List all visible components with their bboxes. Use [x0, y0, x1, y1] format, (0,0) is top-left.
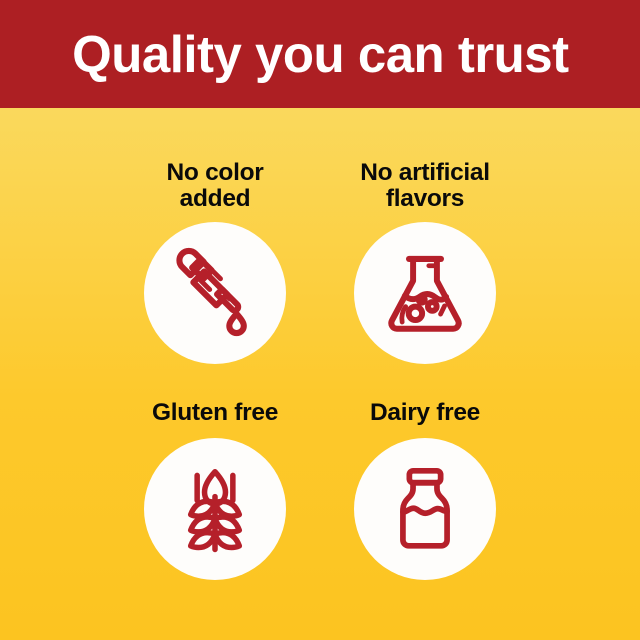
claim-dairy-free: Dairy free	[310, 400, 540, 580]
claim-label: Dairy free	[370, 400, 480, 426]
claim-label: No color added	[167, 160, 264, 212]
quality-badges-poster: Quality you can trust No color added	[0, 0, 640, 640]
claims-grid: No color added	[0, 108, 640, 640]
claim-gluten-free: Gluten free	[100, 400, 330, 580]
icon-circle	[354, 438, 496, 580]
dropper-icon	[166, 244, 264, 342]
claim-no-color-added: No color added	[100, 160, 330, 364]
claim-label: Gluten free	[152, 400, 278, 426]
icon-circle	[354, 222, 496, 364]
claim-label: No artificial flavors	[360, 160, 490, 212]
icon-circle	[144, 222, 286, 364]
page-title: Quality you can trust	[72, 29, 569, 81]
flask-icon	[377, 245, 473, 341]
header-banner: Quality you can trust	[0, 0, 640, 108]
wheat-icon	[169, 463, 261, 555]
icon-circle	[144, 438, 286, 580]
milk-bottle-icon	[379, 463, 471, 555]
claim-no-artificial-flavors: No artificial flavors	[310, 160, 540, 364]
